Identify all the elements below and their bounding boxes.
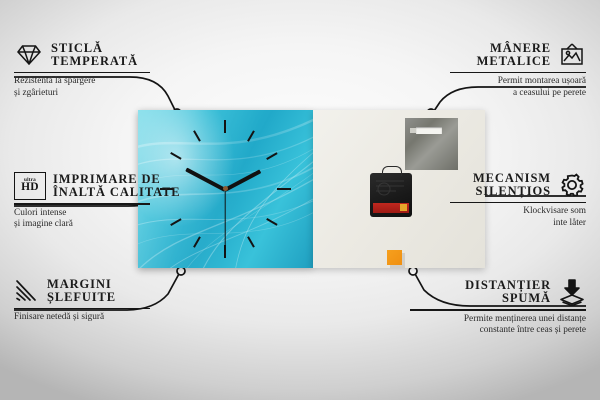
feature-subtitle: Klockvisare som inte låter [450, 206, 586, 229]
infographic-stage: STICLĂ TEMPERATĂ Rezistentă la spargere … [0, 0, 600, 400]
feature-silent-mechanism: MECANISM SILENȚIOS Klockvisare som inte … [450, 172, 586, 230]
gear-icon [558, 172, 586, 198]
feature-rule [14, 308, 150, 310]
feature-subtitle: Permite menținerea unei distanțe constan… [410, 314, 586, 337]
feature-subtitle-line1: Rezistentă la spargere [14, 76, 150, 88]
clock-center-pin [223, 186, 228, 191]
hour-tick [277, 188, 291, 190]
metal-hanger-plate [405, 118, 458, 170]
diagonal-edge-icon [14, 279, 40, 303]
feature-rule [14, 203, 150, 205]
feature-subtitle-line1: Finisare netedă și sigură [14, 312, 150, 324]
feature-subtitle-line2: și imagine clară [14, 219, 150, 231]
feature-title-line2: METALICE [477, 55, 551, 68]
feature-title-line1: MARGINI [47, 278, 116, 291]
keyhole-slot [416, 127, 442, 134]
feature-subtitle-line1: Permite menținerea unei distanțe [410, 314, 586, 326]
feature-subtitle-line1: Klockvisare som [450, 206, 586, 218]
feature-title-line1: STICLĂ [51, 42, 138, 55]
framed-picture-hanging-icon [558, 42, 586, 68]
feature-rule [410, 309, 586, 311]
foam-distance-spacer [387, 250, 402, 265]
second-hand [224, 190, 225, 252]
leader-dot-foam-spacer [409, 267, 417, 275]
leader-dot-polished-edges [177, 267, 185, 275]
feature-subtitle-line2: inte låter [450, 218, 586, 230]
diamond-icon [14, 43, 44, 67]
feature-rule [14, 72, 150, 74]
feature-subtitle: Rezistentă la spargere și zgârieturi [14, 76, 150, 99]
arrow-down-layers-icon [558, 278, 586, 306]
feature-foam-spacer: DISTANȚIER SPUMĂ Permite menținerea unei… [410, 278, 586, 337]
ultra-hd-icon-main: HD [21, 182, 39, 194]
feature-title-line2: TEMPERATĂ [51, 55, 138, 68]
feature-subtitle-line2: a ceasului pe perete [450, 88, 586, 100]
battery [373, 203, 409, 213]
hour-tick [224, 120, 226, 133]
mechanism-detail [374, 178, 408, 200]
feature-title-line2: SILENȚIOS [473, 185, 551, 198]
feature-title-line1: IMPRIMARE DE [53, 173, 181, 186]
feature-subtitle: Culori intense și imagine clară [14, 208, 150, 231]
feature-title-line1: MÂNERE [477, 42, 551, 55]
feature-rule [450, 202, 586, 204]
ultra-hd-icon: ultra HD [14, 172, 46, 200]
feature-title-line2: ȘLEFUITE [47, 291, 116, 304]
feature-title-line1: MECANISM [473, 172, 551, 185]
battery-terminal [400, 204, 407, 211]
feature-subtitle-line1: Culori intense [14, 208, 150, 220]
feature-title-line2: SPUMĂ [465, 292, 551, 305]
feature-rule [450, 72, 586, 74]
feature-polished-edges: MARGINI ȘLEFUITE Finisare netedă și sigu… [14, 278, 150, 324]
feature-metal-handles: MÂNERE METALICE Permit montarea ușoară a… [450, 42, 586, 100]
feature-title-line2: ÎNALTĂ CALITATE [53, 186, 181, 199]
feature-title-line1: DISTANȚIER [465, 279, 551, 292]
feature-subtitle: Finisare netedă și sigură [14, 312, 150, 324]
feature-tempered-glass: STICLĂ TEMPERATĂ Rezistentă la spargere … [14, 42, 150, 100]
feature-hd-print: ultra HD IMPRIMARE DE ÎNALTĂ CALITATE Cu… [14, 172, 150, 231]
feature-subtitle-line2: și zgârieturi [14, 88, 150, 100]
quartz-clock-mechanism [370, 173, 412, 217]
metal-hanging-loop [382, 166, 402, 176]
feature-subtitle-line2: constante între ceas și perete [410, 325, 586, 337]
feature-subtitle: Permit montarea ușoară a ceasului pe per… [450, 76, 586, 99]
feature-subtitle-line1: Permit montarea ușoară [450, 76, 586, 88]
